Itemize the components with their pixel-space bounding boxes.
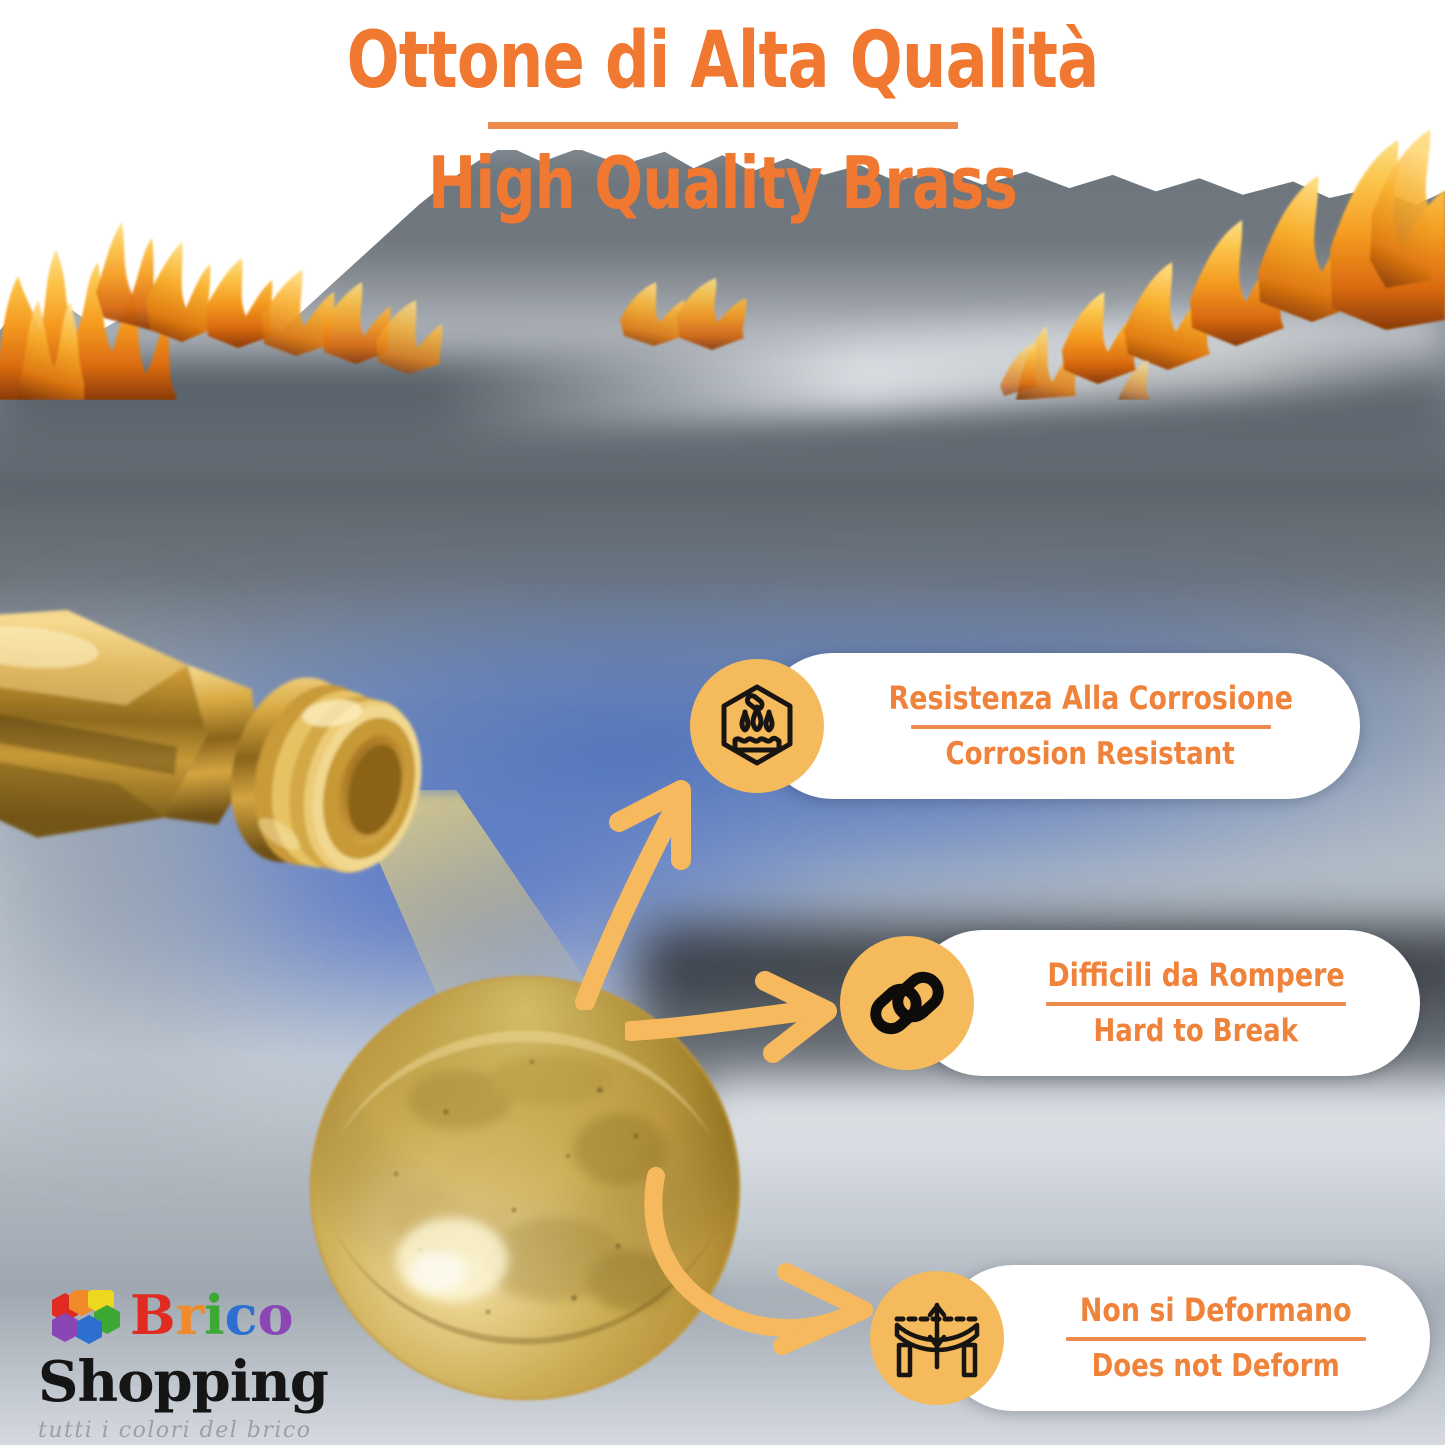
logo-letter-b: B: [130, 1283, 176, 1347]
feature-icon-circle: [690, 659, 824, 793]
logo-letter-c: c: [225, 1283, 258, 1347]
logo-letter-r: r: [176, 1283, 204, 1347]
feature-label-english: Hard to Break: [1093, 1015, 1298, 1048]
logo-tagline: tutti i colori del brico: [38, 1418, 338, 1443]
feature-icon-circle: [870, 1271, 1004, 1405]
feature-pill: Non si Deformano Does not Deform: [940, 1265, 1430, 1411]
feature-label-italian: Non si Deformano: [1080, 1294, 1352, 1328]
logo-letter-i: i: [204, 1283, 225, 1347]
brass-fitting-photo: [0, 585, 520, 985]
feature-label-english: Corrosion Resistant: [946, 738, 1235, 771]
feature-label-english: Does not Deform: [1091, 1350, 1339, 1383]
feature-icon-circle: [840, 936, 974, 1070]
feature-pill: Difficili da Rompere Hard to Break: [910, 930, 1420, 1076]
chain-link-icon: [864, 960, 950, 1046]
hexagon-cluster-icon: [38, 1290, 130, 1358]
brand-logo[interactable]: Brico Shopping tutti i colori del brico: [38, 1292, 338, 1442]
infographic-canvas: Ottone di Alta Qualità High Quality Bras…: [0, 0, 1445, 1445]
title-divider: [488, 122, 958, 129]
feature-separator: [1046, 1002, 1346, 1006]
feature-label-italian: Resistenza Alla Corrosione: [888, 682, 1292, 716]
feature-separator: [911, 725, 1271, 729]
logo-brand-primary: Brico: [130, 1288, 294, 1342]
feature-separator: [1066, 1337, 1366, 1341]
logo-brand-secondary: Shopping: [38, 1354, 338, 1410]
bending-beam-icon: [889, 1295, 985, 1381]
water-drops-hexagon-icon: [711, 680, 803, 772]
brass-sphere-photo: [300, 960, 750, 1410]
page-title-italian: Ottone di Alta Qualità: [145, 22, 1301, 100]
feature-pill: Resistenza Alla Corrosione Corrosion Res…: [760, 653, 1360, 799]
feature-label-italian: Difficili da Rompere: [1047, 959, 1344, 993]
logo-letter-o: o: [258, 1283, 294, 1347]
header-block: Ottone di Alta Qualità High Quality Bras…: [0, 22, 1445, 219]
page-title-english: High Quality Brass: [145, 147, 1301, 219]
